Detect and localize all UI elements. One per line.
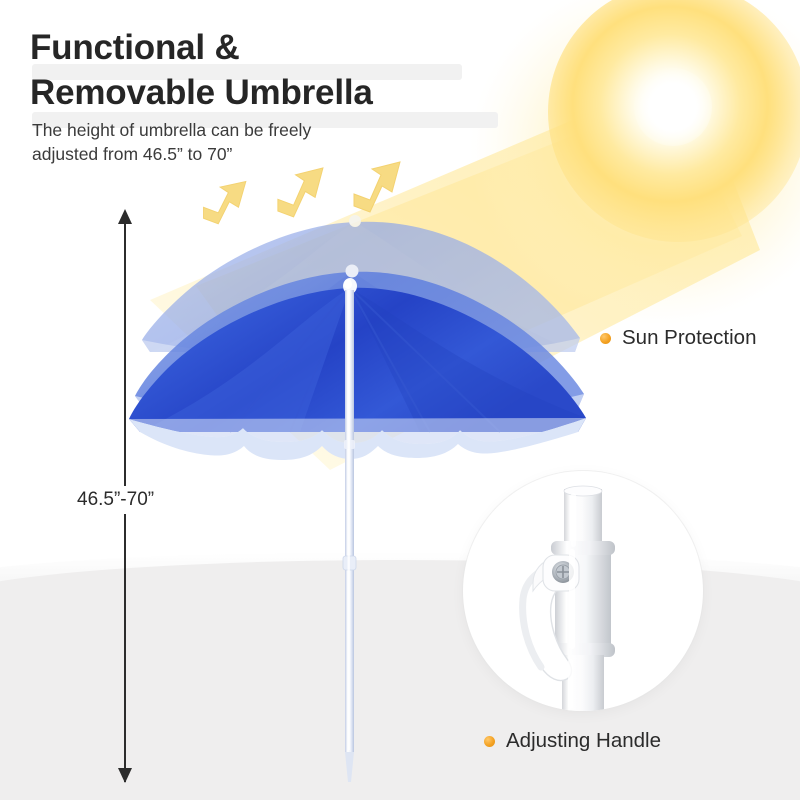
adjusting-handle-detail-callout [463,471,703,711]
height-dimension-label: 46.5”-70” [72,486,159,514]
feature-label-sun-protection: Sun Protection [600,326,756,350]
bullet-dot-icon [600,333,611,344]
bullet-dot-icon [484,736,495,747]
page-subtitle: The height of umbrella can be freely adj… [32,118,462,166]
deflection-arrow-icon-group [204,162,400,224]
header-block: Functional & Removable Umbrella [30,26,550,116]
feature-label-adjusting-handle: Adjusting Handle [484,729,661,753]
feature-label-text: Adjusting Handle [506,729,661,753]
handle-detail-illustration [463,471,703,711]
page-title: Functional & Removable Umbrella [30,26,550,116]
feature-label-text: Sun Protection [622,326,756,350]
product-infographic: 46.5”-70” [0,0,800,800]
dimension-arrow-down-icon [118,768,132,783]
